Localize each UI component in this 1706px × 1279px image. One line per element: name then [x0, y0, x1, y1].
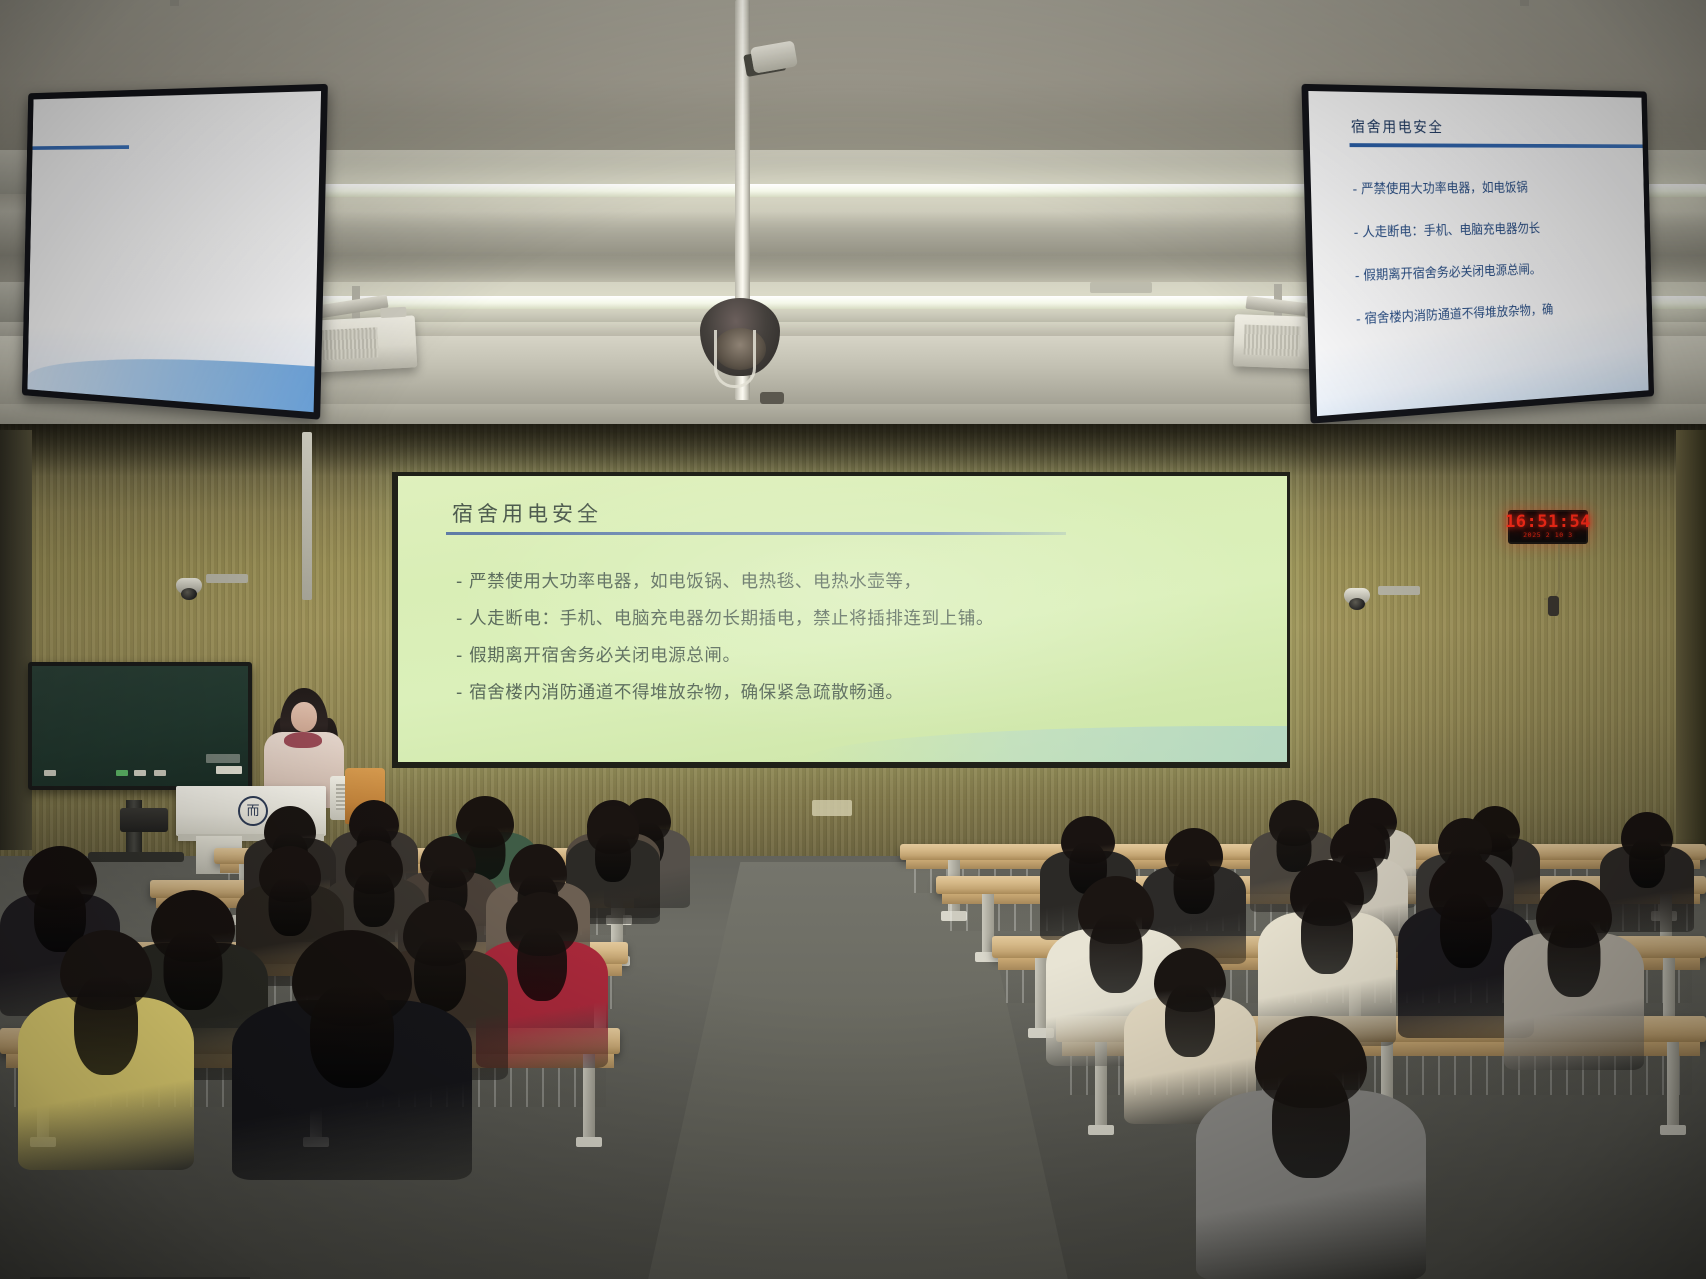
left-wall-monitor[interactable]: left-wall-monitor 热毯、电热水壶等， 期插电，禁止将插排连到上…: [22, 84, 328, 420]
monitor-right-line-3: - 假期离开宿舍务必关闭电源总闸。: [1355, 252, 1642, 291]
student-front-left-yellow: [18, 930, 194, 1170]
slide-title: 宿舍用电安全: [452, 498, 602, 528]
display-button-power[interactable]: [44, 770, 56, 776]
led-clock: 16:51:54 2025 2 10 3: [1508, 510, 1588, 544]
student-right-grey-hood: [1196, 1016, 1426, 1279]
student-right-grey-vest: [1504, 880, 1644, 1070]
monitor-right-line-1: - 严禁使用大功率电器，如电饭锅: [1352, 173, 1639, 204]
presenter-scarf: [284, 732, 322, 748]
clock-cable: [1544, 544, 1560, 600]
monitor-screen-right: 宿舍用电安全 - 严禁使用大功率电器，如电饭锅 - 人走断电：手机、电脑充电器勿…: [1308, 91, 1648, 416]
slide-title-rule: [446, 532, 1066, 535]
wall-conduit: [302, 432, 312, 600]
display-button-panel[interactable]: [216, 766, 242, 774]
monitor-left-line-2: 期插电，禁止将插排连到上铺。: [27, 189, 313, 221]
desk-right-row1-leg-2: [1667, 1042, 1679, 1125]
security-camera-icon-right: [1344, 588, 1370, 604]
wall-top-shadow: [0, 424, 1706, 476]
clock-plug: [1548, 596, 1559, 616]
display-button-green[interactable]: [116, 770, 128, 776]
projector-left: [311, 315, 418, 372]
camera-mount-right: [1378, 586, 1420, 595]
monitor-bezel-right: 宿舍用电安全 - 严禁使用大功率电器，如电饭锅 - 人走断电：手机、电脑充电器勿…: [1301, 84, 1654, 424]
monitor-left-line-4: ，确保紧急疏散畅通。: [27, 240, 311, 281]
student-hair-fall: [74, 974, 138, 1075]
slide-wave-decoration: [807, 726, 1287, 762]
right-wall-monitor[interactable]: 宿舍用电安全 - 严禁使用大功率电器，如电饭锅 - 人走断电：手机、电脑充电器勿…: [1301, 84, 1654, 424]
right-wall-return: [1676, 430, 1706, 850]
monitor-right-line-2: - 人走断电：手机、电脑充电器勿长: [1353, 213, 1640, 248]
camera-mount-left: [206, 574, 248, 583]
student-hair-fall: [595, 832, 631, 882]
display-button-menu[interactable]: [134, 770, 146, 776]
desk-right-row1-foot-0: [1088, 1125, 1114, 1135]
floor-speaker: [120, 808, 168, 832]
projection-screen: 宿舍用电安全 - 严禁使用大功率电器，如电饭锅、电热毯、电热水壶等， - 人走断…: [392, 472, 1290, 768]
monitor-right-rule: [1350, 143, 1649, 148]
student-hair-fall: [517, 927, 567, 1001]
monitor-bezel-left: left-wall-monitor 热毯、电热水壶等， 期插电，禁止将插排连到上…: [22, 84, 328, 420]
monitor-right-line-4: - 宿舍楼内消防通道不得堆放杂物，确: [1356, 292, 1642, 334]
security-camera-icon-left: [176, 578, 202, 594]
monitor-left-rule: [27, 145, 129, 151]
ceiling-fixture: [760, 392, 784, 404]
student-hair-fall: [1272, 1067, 1350, 1178]
monitor-screen-left: left-wall-monitor 热毯、电热水壶等， 期插电，禁止将插排连到上…: [27, 91, 321, 412]
display-label: [206, 754, 240, 763]
student-hair-fall: [269, 877, 312, 936]
lecture-hall-scene: left-wall-monitor 热毯、电热水壶等， 期插电，禁止将插排连到上…: [0, 0, 1706, 1279]
student-hair-fall: [1548, 917, 1601, 997]
clock-time: 16:51:54: [1505, 514, 1591, 531]
slide-bullet-1: - 严禁使用大功率电器，如电饭锅、电热毯、电热水壶等，: [456, 564, 1263, 601]
student-left-black-stripe: [232, 930, 472, 1180]
student-hair-fall: [1301, 896, 1353, 974]
monitor-left-line-1: 热毯、电热水壶等，: [27, 161, 313, 191]
presenter-face: [291, 702, 317, 732]
clock-date: 2025 2 10 3: [1523, 531, 1573, 540]
slide-bullet-2: - 人走断电：手机、电脑充电器勿长期插电，禁止将插排连到上铺。: [456, 601, 1263, 638]
monitor-right-title: 宿舍用电安全: [1351, 116, 1444, 137]
wall-outlet-plate: [812, 800, 852, 816]
slide-surface: 宿舍用电安全 - 严禁使用大功率电器，如电饭锅、电热毯、电热水壶等， - 人走断…: [398, 476, 1287, 762]
slide-bullet-list: - 严禁使用大功率电器，如电饭锅、电热毯、电热水壶等， - 人走断电：手机、电脑…: [456, 564, 1263, 712]
monitor-arm-left: [170, 0, 179, 6]
desk-right-row1-foot-2: [1660, 1125, 1686, 1135]
ceiling-cable: [714, 330, 756, 388]
slide-bullet-4: - 宿舍楼内消防通道不得堆放杂物，确保紧急疏散畅通。: [456, 675, 1263, 712]
ceiling-vent: [1090, 282, 1152, 293]
slide-bullet-3: - 假期离开宿舍务必关闭电源总闸。: [456, 638, 1263, 675]
desk-left-row1-foot-2: [576, 1137, 602, 1147]
monitor-arm-right: [1520, 0, 1529, 6]
student-hair-fall: [310, 983, 394, 1088]
display-button-input[interactable]: [154, 770, 166, 776]
student-hair-fall: [1440, 892, 1492, 968]
